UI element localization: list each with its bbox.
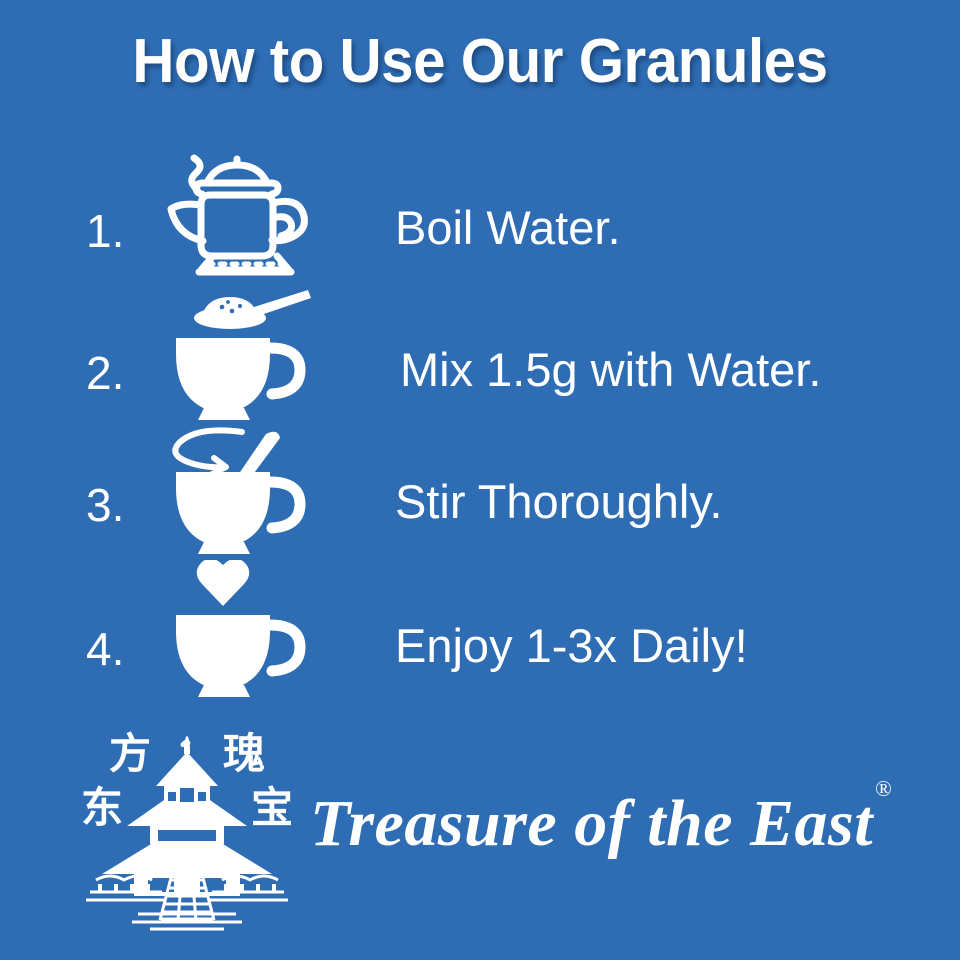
cup-stir-arrow-icon (158, 420, 333, 560)
cup-heart-icon (158, 560, 333, 700)
temple-of-heaven-logo: 方 瑰 东 宝 (72, 722, 302, 934)
step-number-3: 3. (86, 478, 156, 532)
step-text-1: Boil Water. (395, 200, 621, 255)
step-text-4: Enjoy 1-3x Daily! (395, 618, 748, 673)
logo-char-top-left: 方 (109, 729, 151, 778)
step-number-1: 1. (86, 204, 156, 258)
brand-wordmark: Treasure of the East® (310, 786, 890, 862)
logo-char-top-right: 瑰 (223, 729, 265, 778)
promo-graphic: How to Use Our Granules 1. (0, 0, 960, 960)
step-row-1: 1. (0, 148, 960, 288)
logo-char-mid-right: 宝 (251, 783, 293, 832)
step-number-4: 4. (86, 622, 156, 676)
step-row-3: 3. Stir Thorou (0, 420, 960, 560)
registered-trademark-icon: ® (875, 776, 892, 801)
teapot-icon (158, 148, 333, 288)
cup-spoon-granules-icon (158, 288, 333, 428)
step-row-2: 2. (0, 288, 960, 428)
brand-name: Treasure of the East (310, 787, 873, 860)
step-text-2: Mix 1.5g with Water. (400, 342, 821, 397)
step-text-3: Stir Thoroughly. (395, 474, 722, 529)
logo-char-mid-left: 东 (81, 783, 123, 832)
page-title: How to Use Our Granules (29, 26, 931, 97)
step-row-4: 4. Enjoy 1-3x Daily! (0, 560, 960, 700)
step-number-2: 2. (86, 346, 156, 400)
